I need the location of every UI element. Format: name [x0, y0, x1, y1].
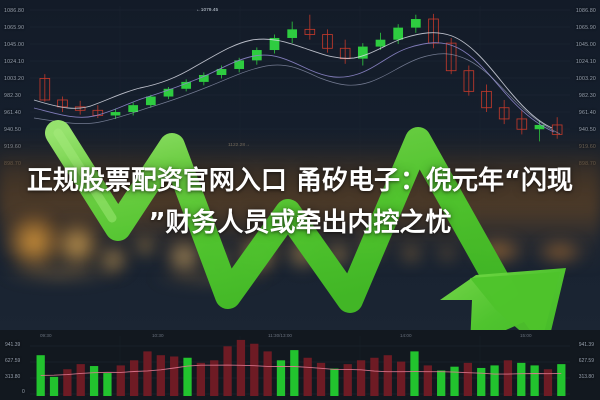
volume-axis-label-right-2: 313.80 [579, 374, 594, 380]
headline: 正规股票配资官网入口 甬矽电子：倪元年“闪现 ”财务人员或牵出内控之忧 [0, 160, 600, 244]
x-tick-4: 15:00 [520, 333, 532, 338]
x-tick-2: 11:30/13:00 [268, 333, 292, 338]
headline-line-2: ”财务人员或牵出内控之忧 [0, 202, 600, 244]
volume-svg [0, 330, 600, 400]
cover-image-canvas: 1086.80 1065.90 1045.00 1024.10 1003.20 … [0, 0, 600, 400]
volume-chart: 941.39 627.59 313.80 0 941.39 627.59 313… [0, 330, 600, 400]
x-tick-1: 10:30 [152, 333, 164, 338]
volume-axis-label-right-1: 627.59 [579, 358, 594, 364]
volume-axis-label-left-2: 313.80 [5, 374, 20, 380]
volume-axis-label-left-1: 627.59 [5, 358, 20, 364]
headline-line-1: 正规股票配资官网入口 甬矽电子：倪元年“闪现 [27, 166, 573, 196]
x-tick-3: 14:00 [400, 333, 412, 338]
volume-axis-label-left-0: 941.39 [5, 342, 20, 348]
x-tick-0: 09:30 [40, 333, 52, 338]
volume-axis-label-left-3: 0 [22, 389, 25, 395]
volume-axis-label-right-0: 941.39 [579, 342, 594, 348]
